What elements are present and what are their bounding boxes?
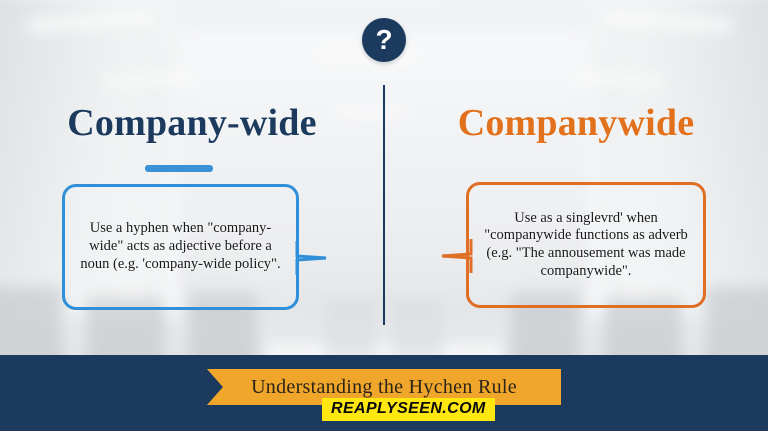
ribbon-title: Understanding the Hychen Rule	[251, 376, 517, 399]
question-mark-icon: ?	[362, 18, 406, 62]
infographic-canvas: ? Company-wide Use a hyphen when "compan…	[0, 0, 768, 431]
left-comparison-column: Company-wide	[0, 0, 384, 355]
right-comparison-column: Companywide	[384, 0, 768, 355]
question-mark-glyph: ?	[375, 26, 392, 54]
right-heading: Companywide	[384, 101, 768, 145]
left-heading: Company-wide	[0, 101, 384, 145]
watermark-text: REAPLYSEEN.COM	[331, 400, 486, 417]
site-watermark: REAPLYSEEN.COM	[322, 398, 495, 421]
left-heading-underline	[145, 165, 213, 172]
